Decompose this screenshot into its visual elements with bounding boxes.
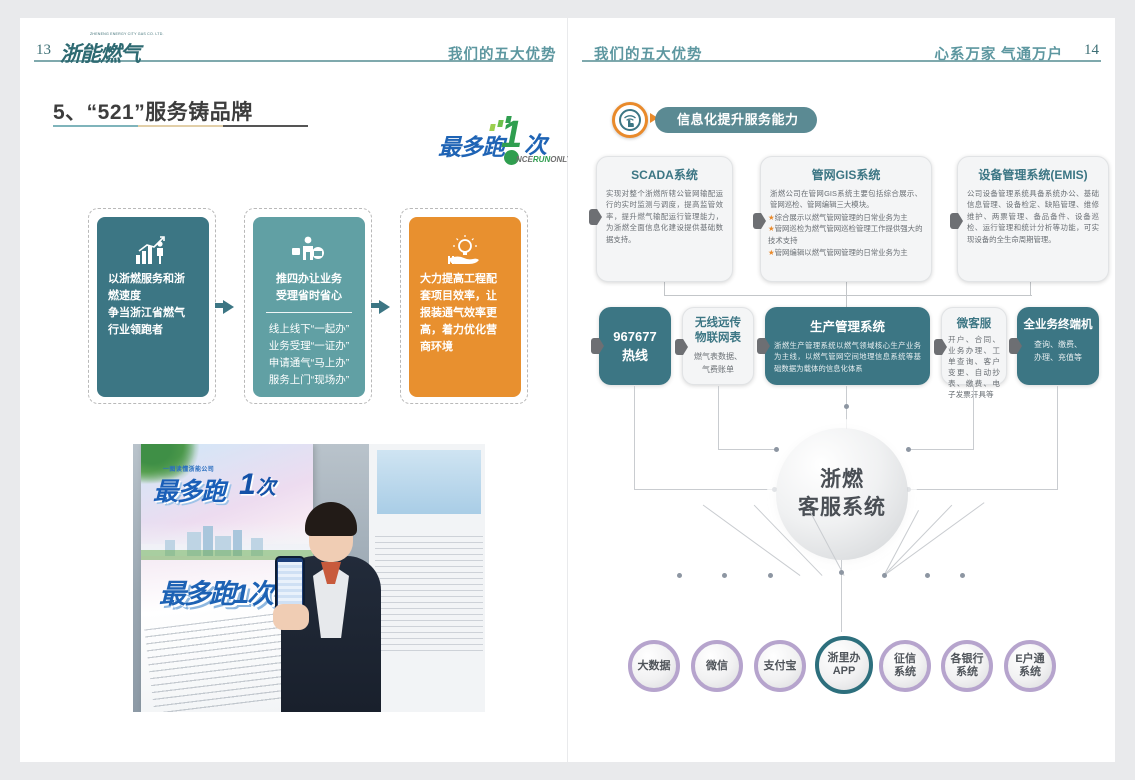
advantage-card-1[interactable]: 以浙燃服务和浙 燃速度 争当浙江省燃气 行业领跑者	[97, 217, 209, 397]
node-iot-meter[interactable]: 无线远传 物联网表 燃气表数据、 气费账单	[682, 307, 754, 385]
heading-line: 争当浙江省燃气	[108, 305, 198, 322]
left-header-title: 我们的五大优势	[448, 43, 557, 64]
bullet-item: ★综合展示以燃气管网管理的日常业务为主	[768, 212, 924, 224]
leaf-node-credit-system[interactable]: 征信 系统	[879, 640, 931, 692]
advantage-card-2-outline: 推四办让业务 受理省时省心 线上线下“一起办” 业务受理“一证办” 申请通气“马…	[244, 208, 372, 404]
body-line: 燃气表数据、	[692, 350, 744, 363]
bar-chart-person-icon	[108, 231, 198, 271]
heading-line: 行业领跑者	[108, 322, 198, 339]
title-rule-segment-3	[223, 125, 308, 127]
leaf-node-zhelib-app[interactable]: 浙里办 APP	[815, 636, 873, 694]
node-emis-title: 设备管理系统(EMIS)	[958, 157, 1108, 183]
connector	[718, 386, 719, 450]
node-iot-meter-body: 燃气表数据、 气费账单	[683, 346, 753, 376]
connector-dot	[960, 573, 965, 578]
list-item: 线上线下“一起办”	[264, 321, 354, 338]
photo-banner-main-text: 最多跑	[153, 472, 225, 508]
node-self-service-terminal-body: 查询、缴费、 办理、充值等	[1017, 332, 1099, 364]
advantage-card-2-items: 线上线下“一起办” 业务受理“一证办” 申请通气“马上办” 服务上门“现场办”	[264, 321, 354, 389]
heading-line: 大力提高工程配	[420, 271, 510, 288]
bullet-item: ★管网巡检为燃气管网巡检管理工作提供强大的技术支持	[768, 223, 924, 246]
leaf-node-ehutong-system[interactable]: E户通 系统	[1004, 640, 1056, 692]
body-line: 气费账单	[692, 363, 744, 376]
leaf-label-line: 各银行	[951, 653, 984, 665]
bullet-text: 综合展示以燃气管网管理的日常业务为主	[775, 213, 908, 222]
leaf-node-banks-system[interactable]: 各银行 系统	[941, 640, 993, 692]
leaf-label-line: 大数据	[638, 660, 671, 672]
leaf-node-wechat[interactable]: 微信	[691, 640, 743, 692]
connector-bus	[664, 295, 1032, 296]
leaf-label: E户通 系统	[1015, 653, 1044, 679]
connector	[634, 489, 776, 490]
wifi-touch-icon	[612, 102, 648, 138]
star-icon: ★	[768, 248, 775, 257]
connector	[1030, 282, 1031, 296]
node-emis-body: 公司设备管理系统具备系统办公、基础信息管理、设备检定、缺陷管理、维修维护、两票管…	[958, 183, 1108, 245]
right-header-slogan: 心系万家 气通万户	[934, 43, 1063, 64]
leaf-node-big-data[interactable]: 大数据	[628, 640, 680, 692]
company-logo: ZHENENG ENERGY CITY GAS CO. LTD. 浙能燃气	[60, 32, 165, 62]
leaf-label-line: 支付宝	[764, 660, 797, 672]
leaf-label-line: E户通	[1015, 653, 1044, 665]
photo-banner-numeral-text: 1	[239, 468, 256, 501]
connector	[846, 282, 847, 296]
core-node-customer-service-system[interactable]: 浙燃 客服系统	[776, 428, 908, 560]
title-line: 967677	[599, 327, 671, 346]
node-wechat-service-title: 微客服	[942, 308, 1006, 331]
advantage-card-3[interactable]: 大力提高工程配 套项目效率，让 报装通气效率更 高，着力优化营 商环境	[409, 217, 521, 397]
leaf-label: 浙里办 APP	[828, 652, 861, 678]
divider	[266, 312, 352, 313]
star-icon: ★	[768, 213, 775, 222]
connector	[846, 295, 847, 307]
service-counter-icon	[264, 231, 354, 271]
right-page-number: 14	[1084, 42, 1099, 59]
connector	[906, 449, 974, 450]
advantage-arrow-2-bar	[371, 303, 381, 308]
star-icon: ★	[768, 224, 775, 233]
connector-dot	[768, 573, 773, 578]
run-once-only-logo: 最多跑 1 次 NCERUNONLY	[438, 114, 566, 172]
leaf-label-line: 浙里办	[828, 652, 861, 664]
connector	[973, 386, 974, 450]
node-gis-title: 管网GIS系统	[761, 157, 931, 183]
logo-chinese-text: 浙能燃气	[60, 38, 140, 68]
photo-right-panel-text	[375, 536, 483, 656]
photo-banner-suffix: 次	[256, 477, 276, 499]
advantage-card-2[interactable]: 推四办让业务 受理省时省心 线上线下“一起办” 业务受理“一证办” 申请通气“马…	[253, 217, 365, 397]
connector	[664, 282, 665, 296]
right-header-title: 我们的五大优势	[594, 43, 703, 64]
leaf-label: 征信 系统	[894, 653, 916, 679]
connector-dot	[906, 447, 911, 452]
core-line-1: 浙燃	[820, 466, 864, 494]
heading-line: 推四办让业务	[264, 271, 354, 288]
list-item: 服务上门“现场办”	[264, 372, 354, 389]
heading-line: 以浙燃服务和浙	[108, 271, 198, 288]
connector	[1057, 386, 1058, 490]
runonce-numeral: 1	[501, 116, 522, 154]
list-item: 申请通气“马上办”	[264, 355, 354, 372]
title-rule-segment-1	[53, 125, 138, 127]
leaf-label-line: APP	[833, 665, 856, 677]
body-line: 查询、缴费、	[1026, 338, 1090, 351]
heading-line: 受理省时省心	[264, 288, 354, 305]
connector	[718, 449, 778, 450]
node-scada[interactable]: SCADA系统 实现对整个浙燃所辖公管网输配运行的实时监测与调度，提高监管效率，…	[596, 156, 733, 282]
node-gis-body: 浙燃公司在管网GIS系统主要包括综合展示、管网巡检、管网编辑三大模块。	[761, 183, 931, 211]
title-line: 无线远传	[683, 316, 753, 331]
advantage-arrow-1-bar	[215, 303, 225, 308]
page-title: 5、“521”服务铸品牌	[53, 96, 253, 126]
advantage-card-3-outline: 大力提高工程配 套项目效率，让 报装通气效率更 高，着力优化营 商环境	[400, 208, 528, 404]
leaf-label-line: 系统	[1019, 666, 1041, 678]
left-page: 13 ZHENENG ENERGY CITY GAS CO. LTD. 浙能燃气…	[20, 18, 567, 762]
leaf-label: 各银行 系统	[951, 653, 984, 679]
connector-dot	[839, 570, 844, 575]
list-item: 业务受理“一证办”	[264, 338, 354, 355]
leaf-label-line: 系统	[956, 666, 978, 678]
title-line: 热线	[599, 346, 671, 365]
advantage-cards: 以浙燃服务和浙 燃速度 争当浙江省燃气 行业领跑者	[20, 208, 567, 413]
connector	[634, 386, 635, 490]
core-line-2: 客服系统	[798, 494, 886, 522]
connector-dot	[722, 573, 727, 578]
advantage-card-3-heading: 大力提高工程配 套项目效率，让 报装通气效率更 高，着力优化营 商环境	[420, 271, 510, 356]
advantage-card-1-outline: 以浙燃服务和浙 燃速度 争当浙江省燃气 行业领跑者	[88, 208, 216, 404]
connector-dot	[677, 573, 682, 578]
connector	[908, 489, 1058, 490]
wifi-touch-icon-inner	[619, 109, 641, 131]
leaf-label-line: 微信	[706, 660, 728, 672]
connector-dot	[925, 573, 930, 578]
node-hotline-title: 967677 热线	[599, 307, 671, 365]
presentation-spread: 13 ZHENENG ENERGY CITY GAS CO. LTD. 浙能燃气…	[0, 0, 1135, 780]
right-running-head: 我们的五大优势 心系万家 气通万户 14	[568, 18, 1115, 66]
node-self-service-terminal[interactable]: 全业务终端机 查询、缴费、 办理、充值等	[1017, 307, 1099, 385]
advantage-card-1-heading: 以浙燃服务和浙 燃速度 争当浙江省燃气 行业领跑者	[108, 271, 198, 339]
leaf-node-alipay[interactable]: 支付宝	[754, 640, 806, 692]
node-production-mgmt-title: 生产管理系统	[765, 307, 930, 335]
connector-dot	[774, 447, 779, 452]
runonce-en: NCERUNONLY	[516, 155, 572, 164]
connector-dot	[844, 404, 849, 409]
node-scada-body: 实现对整个浙燃所辖公管网输配运行的实时监测与调度，提高监管效率，提升燃气输配运行…	[597, 183, 732, 245]
runonce-cn-left: 最多跑	[438, 128, 504, 162]
left-running-head: 13 ZHENENG ENERGY CITY GAS CO. LTD. 浙能燃气…	[20, 18, 567, 66]
photo-employee-with-banner: 一图读懂浙能公司 最多跑 1次 最多跑1次	[133, 444, 485, 712]
node-iot-meter-title: 无线远传 物联网表	[683, 308, 753, 346]
node-emis[interactable]: 设备管理系统(EMIS) 公司设备管理系统具备系统办公、基础信息管理、设备检定、…	[957, 156, 1109, 282]
node-scada-title: SCADA系统	[597, 157, 732, 183]
body-line: 办理、充值等	[1026, 351, 1090, 364]
photo-person-hand	[273, 604, 309, 630]
advantage-card-2-heading: 推四办让业务 受理省时省心	[264, 271, 354, 305]
section-badge-label: 信息化提升服务能力	[655, 107, 817, 133]
node-production-mgmt-body: 浙燃生产管理系统以燃气领域核心生产业务为主线，以燃气管网空间地理信息系统等基础数…	[765, 335, 930, 374]
logo-english-text: ZHENENG ENERGY CITY GAS CO. LTD.	[90, 32, 164, 36]
heading-line: 套项目效率，让	[420, 288, 510, 305]
title-line: 物联网表	[683, 331, 753, 346]
leaf-label: 大数据	[638, 660, 671, 673]
bulb-in-hand-icon	[420, 231, 510, 271]
bullet-text: 管网巡检为燃气管网巡检管理工作提供强大的技术支持	[768, 224, 922, 245]
runonce-en-run: RUN	[533, 155, 550, 164]
heading-line: 报装通气效率更	[420, 305, 510, 322]
heading-line: 燃速度	[108, 288, 198, 305]
photo-banner-numeral: 1次	[239, 468, 276, 502]
photo-smartphone-screen	[278, 562, 302, 608]
leaf-label: 微信	[706, 660, 728, 673]
leaf-label: 支付宝	[764, 660, 797, 673]
node-wechat-service[interactable]: 微客服 开户、合同、业务办理、工单查询、客户变更、自动抄表、缴费、电子发票开具等	[941, 307, 1007, 385]
leaf-label-line: 征信	[894, 653, 916, 665]
node-production-mgmt[interactable]: 生产管理系统 浙燃生产管理系统以燃气领域核心生产业务为主线，以燃气管网空间地理信…	[765, 307, 930, 385]
node-gis[interactable]: 管网GIS系统 浙燃公司在管网GIS系统主要包括综合展示、管网巡检、管网编辑三大…	[760, 156, 932, 282]
title-rule-segment-2	[138, 125, 223, 127]
runonce-en-once: NCE	[516, 155, 533, 164]
heading-line: 高，着力优化营	[420, 322, 510, 339]
bullet-text: 管网编辑以燃气管网管理的日常业务为主	[775, 248, 908, 257]
photo-banner-second-text: 最多跑1次	[159, 572, 272, 611]
node-hotline[interactable]: 967677 热线	[599, 307, 671, 385]
bullet-item: ★管网编辑以燃气管网管理的日常业务为主	[768, 247, 924, 259]
photo-right-panel-image	[377, 450, 481, 514]
node-self-service-terminal-title: 全业务终端机	[1017, 307, 1099, 332]
connector-dot	[882, 573, 887, 578]
leaf-label-line: 系统	[894, 666, 916, 678]
node-gis-bullets: ★综合展示以燃气管网管理的日常业务为主 ★管网巡检为燃气管网巡检管理工作提供强大…	[761, 211, 931, 258]
left-page-number: 13	[36, 42, 51, 59]
heading-line: 商环境	[420, 339, 510, 356]
